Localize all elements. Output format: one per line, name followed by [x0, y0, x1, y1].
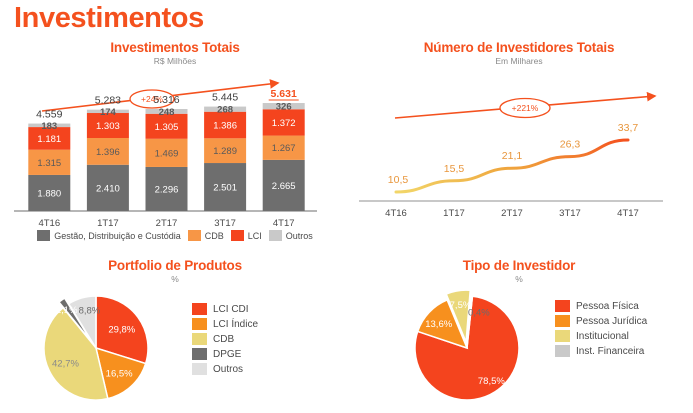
bar-chart-title: Investimentos Totais: [0, 40, 350, 55]
bar-category-labels: 4T161T172T173T174T17: [38, 218, 294, 229]
pie-legend-item[interactable]: Institucional: [555, 330, 647, 342]
bar-segment-label: 2.501: [213, 183, 237, 194]
line-category-label: 4T17: [617, 208, 639, 219]
pie-value-label: 16,5%: [106, 368, 133, 379]
pie-legend-item[interactable]: Pessoa Física: [555, 300, 647, 312]
bar-legend-item[interactable]: Gestão, Distribuição e Custódia: [37, 230, 181, 241]
bar-legend-label: Gestão, Distribuição e Custódia: [54, 231, 181, 241]
bar-category-label: 4T16: [38, 218, 60, 229]
pie-legend-swatch: [555, 330, 570, 342]
pie-legend-label: Inst. Financeira: [576, 346, 644, 357]
bar-total-label: 5.631: [271, 88, 297, 100]
bar-total-label: 5.316: [153, 94, 179, 106]
line-chart-subtitle: Em Milhares: [345, 56, 693, 66]
bar-segment-label: 1.303: [96, 121, 120, 132]
pie-value-label: 29,8%: [108, 325, 135, 336]
pie-legend-label: Pessoa Física: [576, 301, 639, 312]
pie-products-subtitle: %: [0, 274, 350, 284]
pie-legend-swatch: [192, 348, 207, 360]
line-chart-svg: +221% 10,515,521,126,333,7 4T161T172T173…: [345, 68, 693, 243]
bar-segment-label: 174: [100, 107, 117, 118]
line-category-labels: 4T161T172T173T174T17: [385, 208, 639, 219]
bar-legend-label: CDB: [205, 231, 224, 241]
pie-legend-label: DPGE: [213, 349, 241, 360]
pie-legend-item[interactable]: DPGE: [192, 348, 258, 360]
line-growth-label: +221%: [512, 103, 539, 113]
tipo-investidor-panel: Tipo de Investidor % 78,5%13,6%7,5%0,4% …: [345, 258, 693, 413]
pie-legend-swatch: [555, 345, 570, 357]
bar-chart-subtitle: R$ Milhões: [0, 56, 350, 66]
bar-segment-label: 1.372: [272, 118, 296, 129]
bar-legend-label: Outros: [286, 231, 313, 241]
bar-segment-label: 1.880: [37, 188, 61, 199]
bar-legend-swatch: [269, 230, 282, 241]
pie-investors-subtitle: %: [345, 274, 693, 284]
bar-category-label: 3T17: [214, 218, 236, 229]
bar-legend-item[interactable]: Outros: [269, 230, 313, 241]
line-point-label: 26,3: [560, 139, 581, 151]
pie-legend-item[interactable]: LCI Índice: [192, 318, 258, 330]
pie-legend-label: LCI Índice: [213, 319, 258, 330]
bar-segment-label: 2.296: [155, 184, 179, 195]
pie-legend-swatch: [192, 318, 207, 330]
pie-investors-svg: 78,5%13,6%7,5%0,4%: [387, 286, 562, 406]
pie-legend-label: LCI CDI: [213, 304, 249, 315]
pie-value-label: 2,1%: [56, 305, 78, 316]
bar-legend-item[interactable]: CDB: [188, 230, 224, 241]
page-title: Investimentos: [14, 2, 204, 35]
bar-legend-item[interactable]: LCI: [231, 230, 262, 241]
bar-category-label: 4T17: [273, 218, 295, 229]
bar-segment-label: 2.665: [272, 181, 296, 192]
bar-legend-swatch: [231, 230, 244, 241]
portfolio-produtos-panel: Portfolio de Produtos % 29,8%16,5%42,7%2…: [0, 258, 350, 413]
pie-value-label: 13,6%: [425, 319, 452, 330]
bar-segment-label: 1.289: [213, 146, 237, 157]
bar-legend-swatch: [188, 230, 201, 241]
line-point-label: 33,7: [618, 122, 639, 134]
line-point-label: 15,5: [444, 163, 465, 175]
pie-value-label: 78,5%: [478, 376, 505, 387]
line-point-labels: 10,515,521,126,333,7: [388, 122, 639, 186]
bar-total-label: 5.445: [212, 92, 238, 104]
line-category-label: 4T16: [385, 208, 407, 219]
bar-total-label: 4.559: [36, 109, 62, 121]
line-point-label: 10,5: [388, 174, 409, 186]
bar-segment-label: 248: [159, 107, 175, 118]
pie-products-legend: LCI CDILCI ÍndiceCDBDPGEOutros: [192, 303, 258, 375]
pie-value-label: 42,7%: [52, 359, 79, 370]
bar-total-label: 5.283: [95, 95, 121, 107]
bar-legend-swatch: [37, 230, 50, 241]
bar-segment-label: 1.396: [96, 147, 120, 158]
pie-legend-swatch: [555, 315, 570, 327]
bar-segment-label: 183: [41, 121, 57, 132]
pie-legend-item[interactable]: CDB: [192, 333, 258, 345]
bar-segment-label: 2.410: [96, 183, 120, 194]
pie-value-label: 0,4%: [468, 308, 490, 319]
pie-legend-item[interactable]: Outros: [192, 363, 258, 375]
bar-segment-label: 1.469: [155, 148, 179, 159]
numero-investidores-panel: Número de Investidores Totais Em Milhare…: [345, 40, 693, 250]
line-point-label: 21,1: [502, 150, 523, 162]
bar-category-label: 1T17: [97, 218, 119, 229]
bar-chart-svg: +24% 1.8801.3151.1811834.5592.4101.3961.…: [0, 68, 350, 243]
investors-line: [396, 140, 628, 192]
bar-category-label: 2T17: [156, 218, 178, 229]
pie-investors-title: Tipo de Investidor: [345, 258, 693, 273]
pie-legend-item[interactable]: LCI CDI: [192, 303, 258, 315]
bar-segment-label: 1.315: [37, 158, 61, 169]
pie-legend-swatch: [555, 300, 570, 312]
pie-legend-label: Outros: [213, 364, 243, 375]
bar-chart-legend: Gestão, Distribuição e CustódiaCDBLCIOut…: [0, 230, 350, 241]
bar-legend-label: LCI: [248, 231, 262, 241]
pie-products-title: Portfolio de Produtos: [0, 258, 350, 273]
pie-products-svg: 29,8%16,5%42,7%2,1%8,8%: [18, 286, 193, 406]
bar-segment-label: 1.181: [37, 134, 61, 145]
pie-legend-item[interactable]: Inst. Financeira: [555, 345, 647, 357]
pie-legend-swatch: [192, 363, 207, 375]
line-category-label: 2T17: [501, 208, 523, 219]
pie-legend-swatch: [192, 333, 207, 345]
bar-segment-label: 1.267: [272, 143, 296, 154]
bar-segment-label: 326: [276, 102, 292, 113]
pie-legend-swatch: [192, 303, 207, 315]
investimentos-totais-panel: Investimentos Totais R$ Milhões +24% 1.8…: [0, 40, 350, 250]
pie-legend-label: Pessoa Jurídica: [576, 316, 647, 327]
line-category-label: 1T17: [443, 208, 465, 219]
bar-groups: 1.8801.3151.1811834.5592.4101.3961.30317…: [28, 88, 304, 211]
pie-investors-legend: Pessoa FísicaPessoa JurídicaInstituciona…: [555, 300, 647, 357]
bar-segment-label: 1.386: [213, 121, 237, 132]
line-chart-title: Número de Investidores Totais: [345, 40, 693, 55]
pie-legend-label: CDB: [213, 334, 234, 345]
bar-segment-label: 1.305: [155, 122, 179, 133]
pie-legend-label: Institucional: [576, 331, 629, 342]
pie-legend-item[interactable]: Pessoa Jurídica: [555, 315, 647, 327]
line-category-label: 3T17: [559, 208, 581, 219]
pie-value-label: 8,8%: [79, 305, 101, 316]
bar-segment-label: 268: [217, 105, 233, 116]
